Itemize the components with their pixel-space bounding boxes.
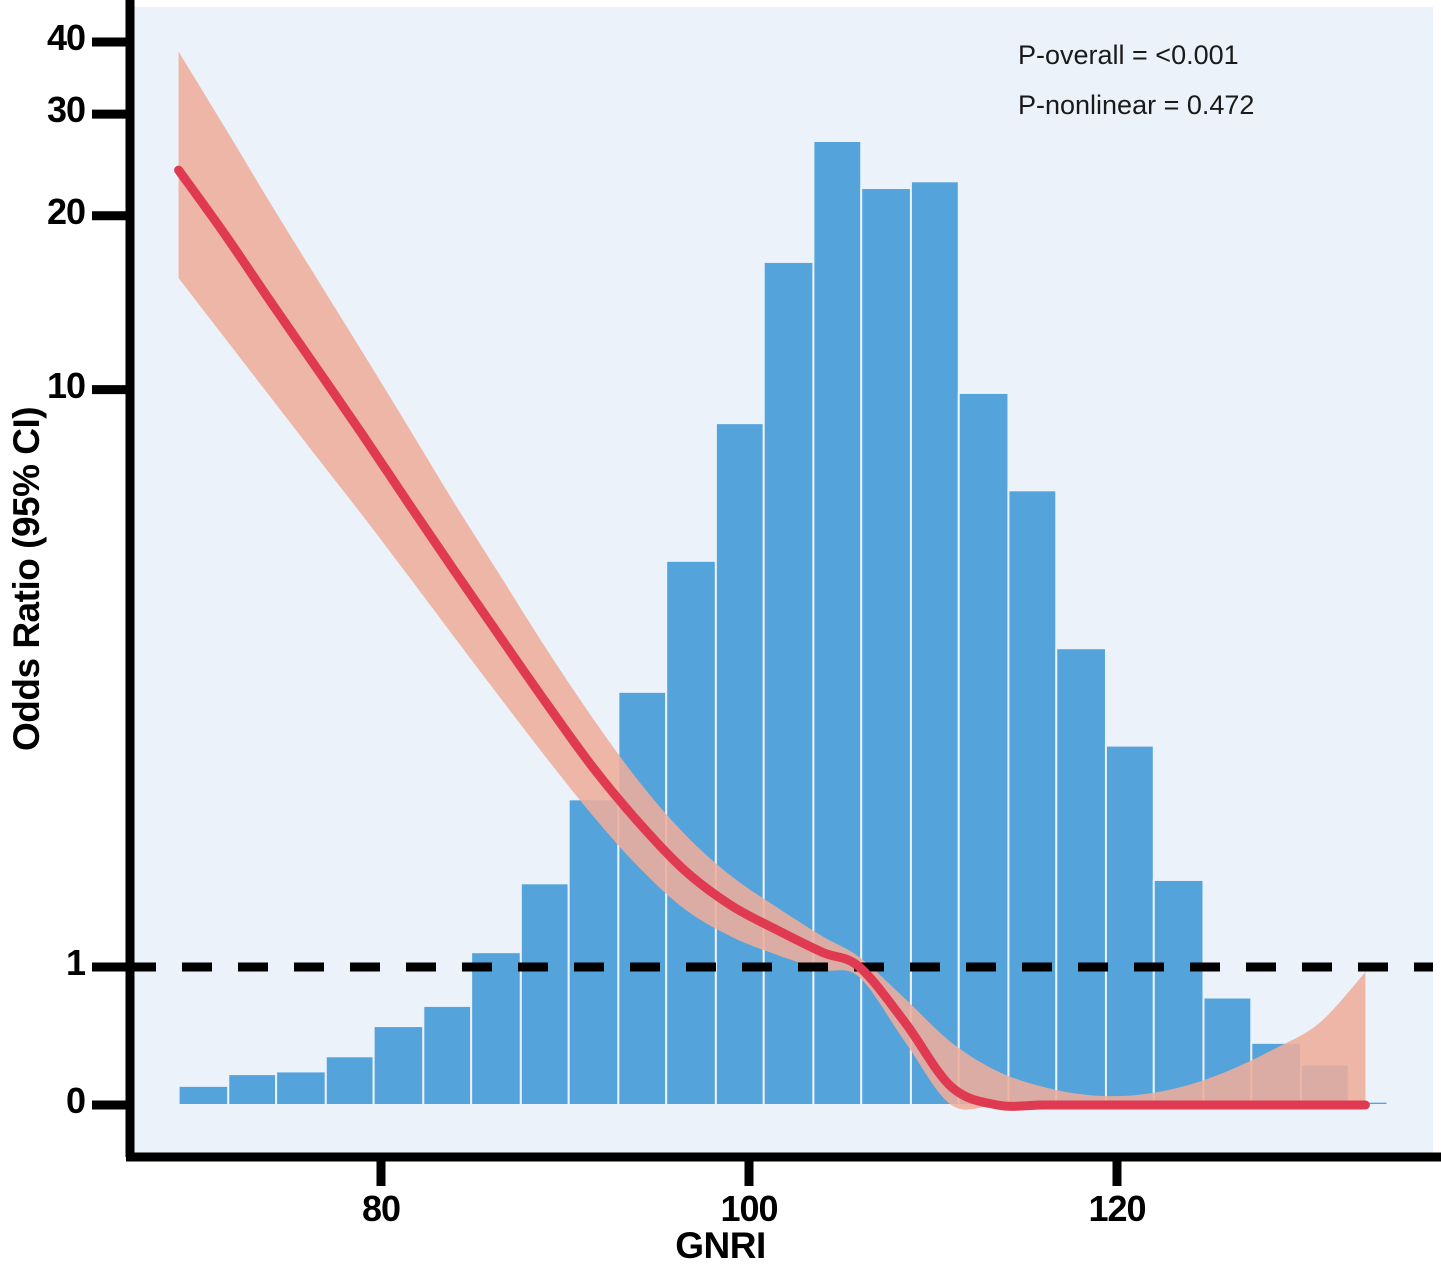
- y-tick-label: 40: [0, 17, 85, 59]
- histogram-bar: [618, 692, 666, 1105]
- histogram-bar: [1106, 746, 1154, 1105]
- chart-root: 4030201010 80100120 Odds Ratio (95% CI) …: [0, 0, 1441, 1273]
- annotation-p-overall: P-overall = <0.001: [1018, 40, 1239, 71]
- y-tick-label: 1: [0, 942, 85, 984]
- x-axis-title: GNRI: [0, 1225, 1441, 1267]
- histogram-bar: [1056, 648, 1106, 1105]
- y-tick-label: 0: [0, 1080, 85, 1122]
- histogram-bar: [228, 1074, 276, 1105]
- annotation-p-nonlinear: P-nonlinear = 0.472: [1018, 90, 1254, 121]
- histogram-bar: [276, 1071, 326, 1105]
- histogram-bar: [374, 1026, 424, 1105]
- x-tick-label: 100: [659, 1188, 839, 1230]
- x-tick-label: 120: [1027, 1188, 1207, 1230]
- y-axis-title: Odds Ratio (95% CI): [6, 411, 48, 751]
- histogram-bar: [423, 1006, 471, 1105]
- histogram-bar: [959, 393, 1009, 1105]
- histogram-bar: [1154, 880, 1204, 1105]
- histogram-bar: [179, 1086, 229, 1105]
- x-tick-label: 80: [291, 1188, 471, 1230]
- histogram-bar: [521, 883, 569, 1105]
- y-tick-label: 30: [0, 89, 85, 131]
- histogram-bar: [716, 423, 764, 1105]
- y-tick-label: 10: [0, 365, 85, 407]
- histogram-bar: [569, 799, 619, 1105]
- y-tick-label: 20: [0, 191, 85, 233]
- histogram-bar: [764, 262, 814, 1105]
- histogram-bar: [326, 1056, 374, 1105]
- histogram-bar: [1008, 490, 1056, 1105]
- histogram-bar: [471, 952, 521, 1105]
- rcs-odds-ratio-plot: [0, 0, 1441, 1273]
